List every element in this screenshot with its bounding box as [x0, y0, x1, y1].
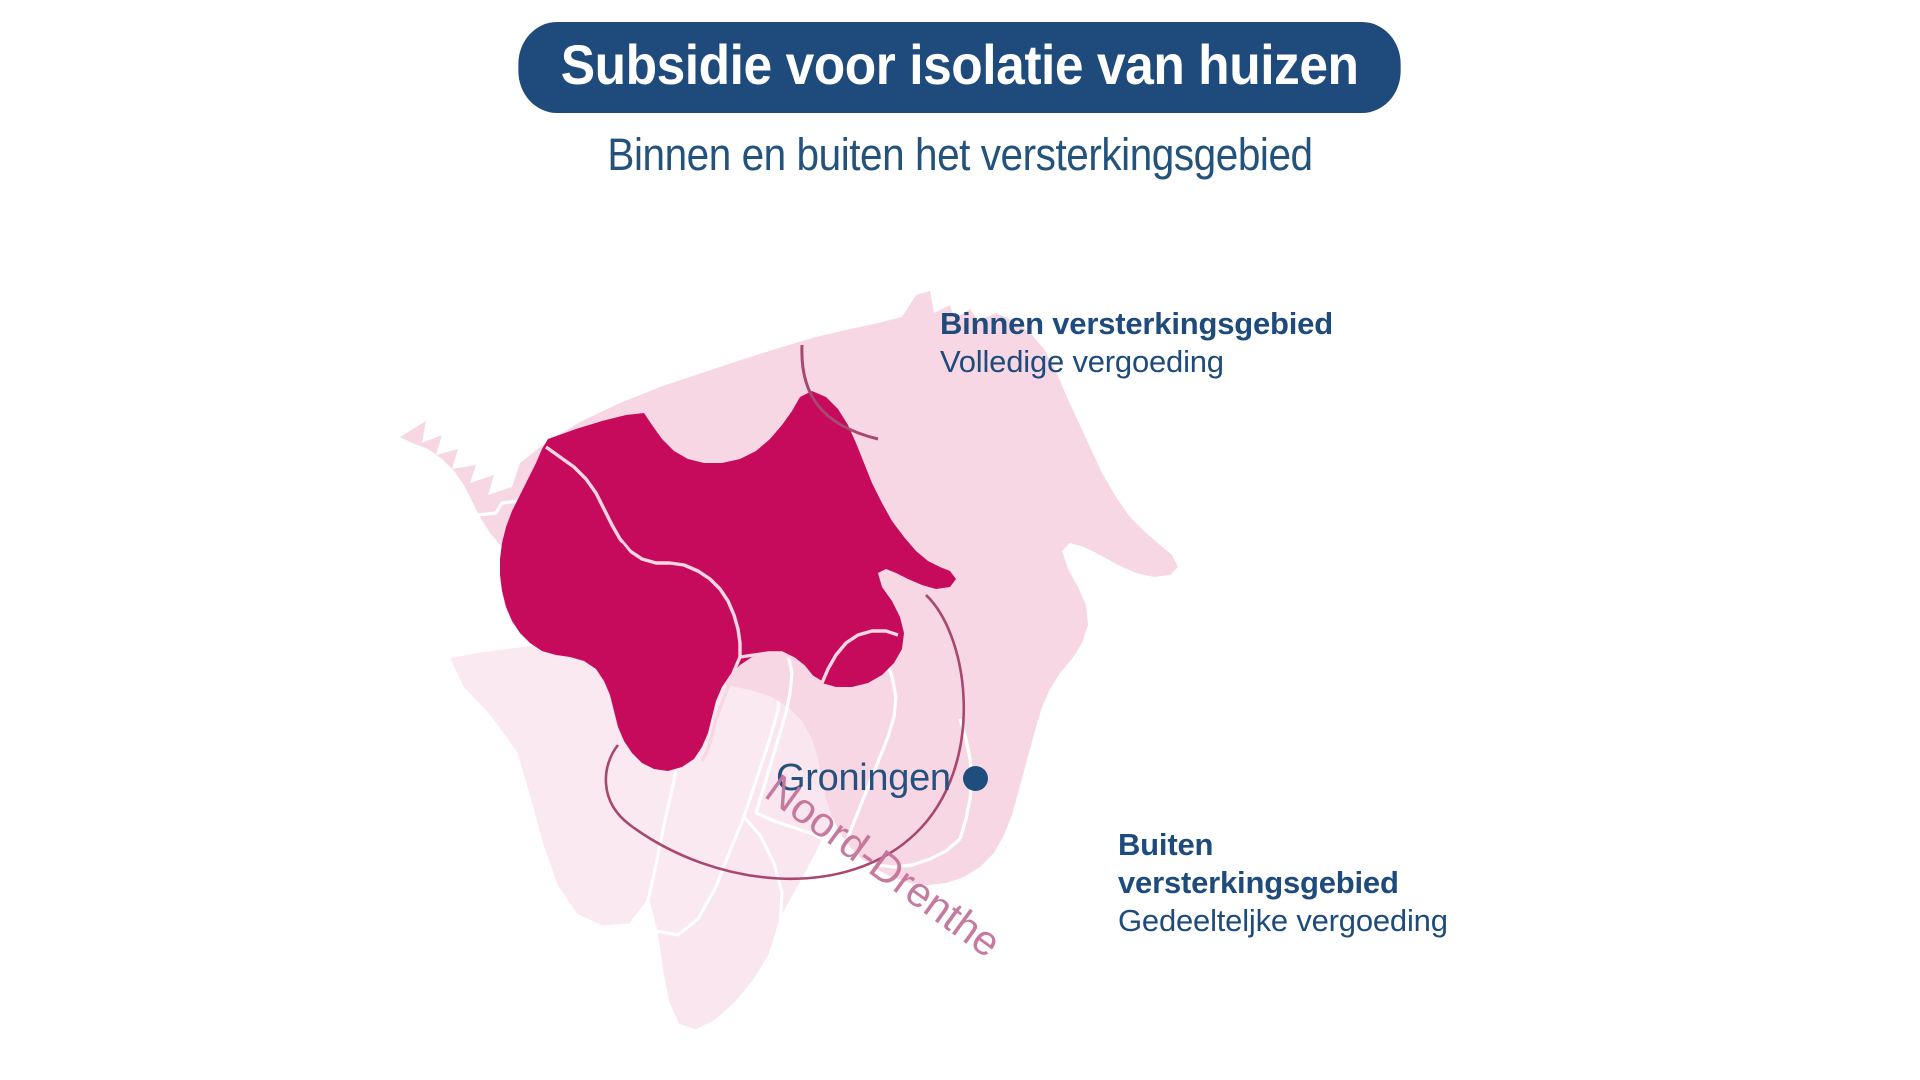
- city-dot-icon: [963, 766, 988, 791]
- annotation-buiten-title: Buiten versterkingsgebied: [1118, 826, 1458, 902]
- page-title: Subsidie voor isolatie van huizen: [519, 22, 1402, 113]
- infographic-canvas: Subsidie voor isolatie van huizen Binnen…: [0, 0, 1920, 1080]
- page-subtitle: Binnen en buiten het versterkingsgebied: [96, 129, 1824, 181]
- annotation-buiten: Buiten versterkingsgebied Gedeelteljke v…: [1118, 826, 1458, 940]
- annotation-binnen: Binnen versterkingsgebied Volledige verg…: [940, 305, 1500, 382]
- annotation-binnen-subtitle: Volledige vergoeding: [940, 343, 1500, 382]
- annotation-buiten-subtitle: Gedeelteljke vergoeding: [1118, 902, 1458, 941]
- annotation-binnen-title: Binnen versterkingsgebied: [940, 305, 1500, 343]
- header: Subsidie voor isolatie van huizen Binnen…: [0, 0, 1920, 181]
